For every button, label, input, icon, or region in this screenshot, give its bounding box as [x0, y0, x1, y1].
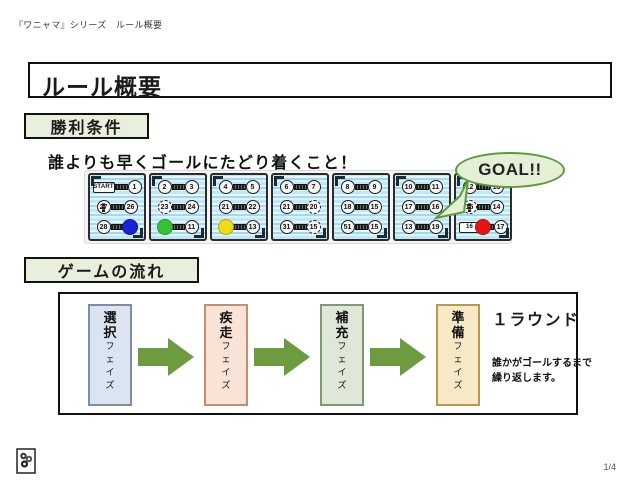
board-node: 1: [128, 180, 142, 194]
board-chain-link: [416, 184, 429, 190]
board-chain-link: [416, 224, 429, 230]
board-node: 17: [494, 220, 508, 234]
page-number: 1/4: [603, 462, 616, 472]
board-node: 14: [490, 200, 504, 214]
board-card-row: 28: [90, 219, 144, 236]
phase-kana: フ: [453, 340, 462, 353]
board-node: 23: [158, 200, 172, 214]
flow-arrow-icon: [370, 338, 426, 376]
board-chain-link: [355, 224, 368, 230]
board-chain-link: [172, 224, 185, 230]
board-node: 8: [341, 180, 355, 194]
phase-box-preparation: 準 備 フ ェ イ ズ: [436, 304, 480, 406]
board-node: 6: [280, 180, 294, 194]
player-token[interactable]: [475, 219, 491, 235]
board-card-row: 2120: [273, 199, 327, 216]
board-node: 11: [185, 220, 199, 234]
board-card-row: 1617: [456, 219, 510, 236]
board-node: 21: [280, 200, 294, 214]
board-card-row: START1: [90, 179, 144, 196]
phase-kana: フ: [105, 340, 114, 353]
phase-kana: イ: [105, 366, 114, 379]
flow-arrow-icon: [254, 338, 310, 376]
phase-kana: イ: [337, 366, 346, 379]
phase-kanji: 充: [335, 325, 348, 340]
phase-kana: ェ: [221, 353, 230, 366]
player-token[interactable]: [122, 219, 138, 235]
board-card-row: 13: [212, 219, 266, 236]
goal-bubble: GOAL!!: [455, 152, 565, 188]
board-node: 31: [280, 220, 294, 234]
phase-kanji: 備: [451, 325, 464, 340]
board-chain-link: [355, 204, 368, 210]
board-card-row: 45: [212, 179, 266, 196]
phase-kana: ェ: [105, 353, 114, 366]
round-note-line-1: 誰かがゴールするまで: [492, 356, 592, 371]
phase-kanji: 択: [103, 325, 116, 340]
board-node: 18: [341, 200, 355, 214]
section-label-victory: 勝利条件: [24, 113, 149, 139]
phase-box-selection: 選 択 フ ェ イ ズ: [88, 304, 132, 406]
board-node: 26: [124, 200, 138, 214]
player-token[interactable]: [218, 219, 234, 235]
board-chain-link: [294, 204, 307, 210]
board-card-row: 1319: [395, 219, 449, 236]
phase-kanji: 準: [451, 310, 464, 325]
phase-kanji: 走: [219, 325, 232, 340]
phase-kana: イ: [453, 366, 462, 379]
board-card[interactable]: 23232411: [149, 173, 207, 241]
slide-breadcrumb: 『ワニャマ』シリーズ ルール概要: [14, 18, 162, 31]
phase-kana: ズ: [337, 379, 346, 392]
board-card-row: 2324: [151, 199, 205, 216]
board-node: 15: [368, 220, 382, 234]
round-note: 誰かがゴールするまで 繰り返します。: [492, 356, 592, 386]
board-card-row: 1815: [334, 199, 388, 216]
player-token[interactable]: [157, 219, 173, 235]
board-node: 51: [341, 220, 355, 234]
section-label-flow: ゲームの流れ: [24, 257, 199, 283]
phase-kana: ェ: [453, 353, 462, 366]
goal-bubble-tail: [434, 178, 470, 220]
board-node: 13: [246, 220, 260, 234]
board-chain-link: [233, 224, 246, 230]
board-card[interactable]: START1272628: [88, 173, 146, 241]
board-node: 2: [158, 180, 172, 194]
board-card[interactable]: 8918155115: [332, 173, 390, 241]
board-card-row: 3115: [273, 219, 327, 236]
board-card[interactable]: 45212213: [210, 173, 268, 241]
board-chain-link: [172, 204, 185, 210]
board-node: 24: [185, 200, 199, 214]
round-title: １ラウンド: [492, 306, 580, 330]
board-chain-link: [294, 224, 307, 230]
phase-kana: ェ: [337, 353, 346, 366]
round-note-line-2: 繰り返します。: [492, 371, 592, 386]
phase-kana: ズ: [105, 379, 114, 392]
phase-kanji: 補: [335, 310, 348, 325]
phase-kanji: 疾: [219, 310, 232, 325]
board-card-row: 2726: [90, 199, 144, 216]
page-title-box: ルール概要: [28, 62, 612, 98]
phase-kana: ズ: [221, 379, 230, 392]
board-card-row: 67: [273, 179, 327, 196]
board-chain-link: [233, 184, 246, 190]
board-node: 15: [368, 200, 382, 214]
board-node: 7: [307, 180, 321, 194]
board-chain-link: [477, 204, 490, 210]
board-node: 4: [219, 180, 233, 194]
board-chain-link: [233, 204, 246, 210]
board-card-row: 89: [334, 179, 388, 196]
page-title: ルール概要: [42, 68, 162, 102]
board-card-row: 23: [151, 179, 205, 196]
board-node: 13: [402, 220, 416, 234]
phase-kana: ズ: [453, 379, 462, 392]
board-start-node: START: [93, 182, 115, 193]
phase-box-replenish: 補 充 フ ェ イ ズ: [320, 304, 364, 406]
publisher-logo-icon: [16, 448, 36, 474]
board-chain-link: [115, 184, 128, 190]
phase-box-dash: 疾 走 フ ェ イ ズ: [204, 304, 248, 406]
board-card-row: 2122: [212, 199, 266, 216]
flow-arrow-icon: [138, 338, 194, 376]
phase-kana: フ: [337, 340, 346, 353]
board-chain-link: [355, 184, 368, 190]
phase-kanji: 選: [103, 310, 116, 325]
board-vertical-link: [102, 203, 105, 212]
board-node: 19: [429, 220, 443, 234]
board-chain-link: [294, 184, 307, 190]
board-card[interactable]: 6721203115: [271, 173, 329, 241]
board-node: 3: [185, 180, 199, 194]
board-card-row: 11: [151, 219, 205, 236]
board-chain-link: [111, 204, 124, 210]
board-node: 28: [97, 220, 111, 234]
phase-kana: フ: [221, 340, 230, 353]
board-node: 10: [402, 180, 416, 194]
board-node: 21: [219, 200, 233, 214]
board-node: 20: [307, 200, 321, 214]
board-node: 22: [246, 200, 260, 214]
board-chain-link: [416, 204, 429, 210]
board-chain-link: [172, 184, 185, 190]
phase-kana: イ: [221, 366, 230, 379]
flow-diagram: 選 択 フ ェ イ ズ 疾 走 フ ェ イ ズ 補 充 フ ェ イ ズ 準 備 …: [58, 292, 578, 415]
board-node: 15: [307, 220, 321, 234]
board-card-row: 5115: [334, 219, 388, 236]
board-node: 17: [402, 200, 416, 214]
board-node: 9: [368, 180, 382, 194]
board-node: 5: [246, 180, 260, 194]
